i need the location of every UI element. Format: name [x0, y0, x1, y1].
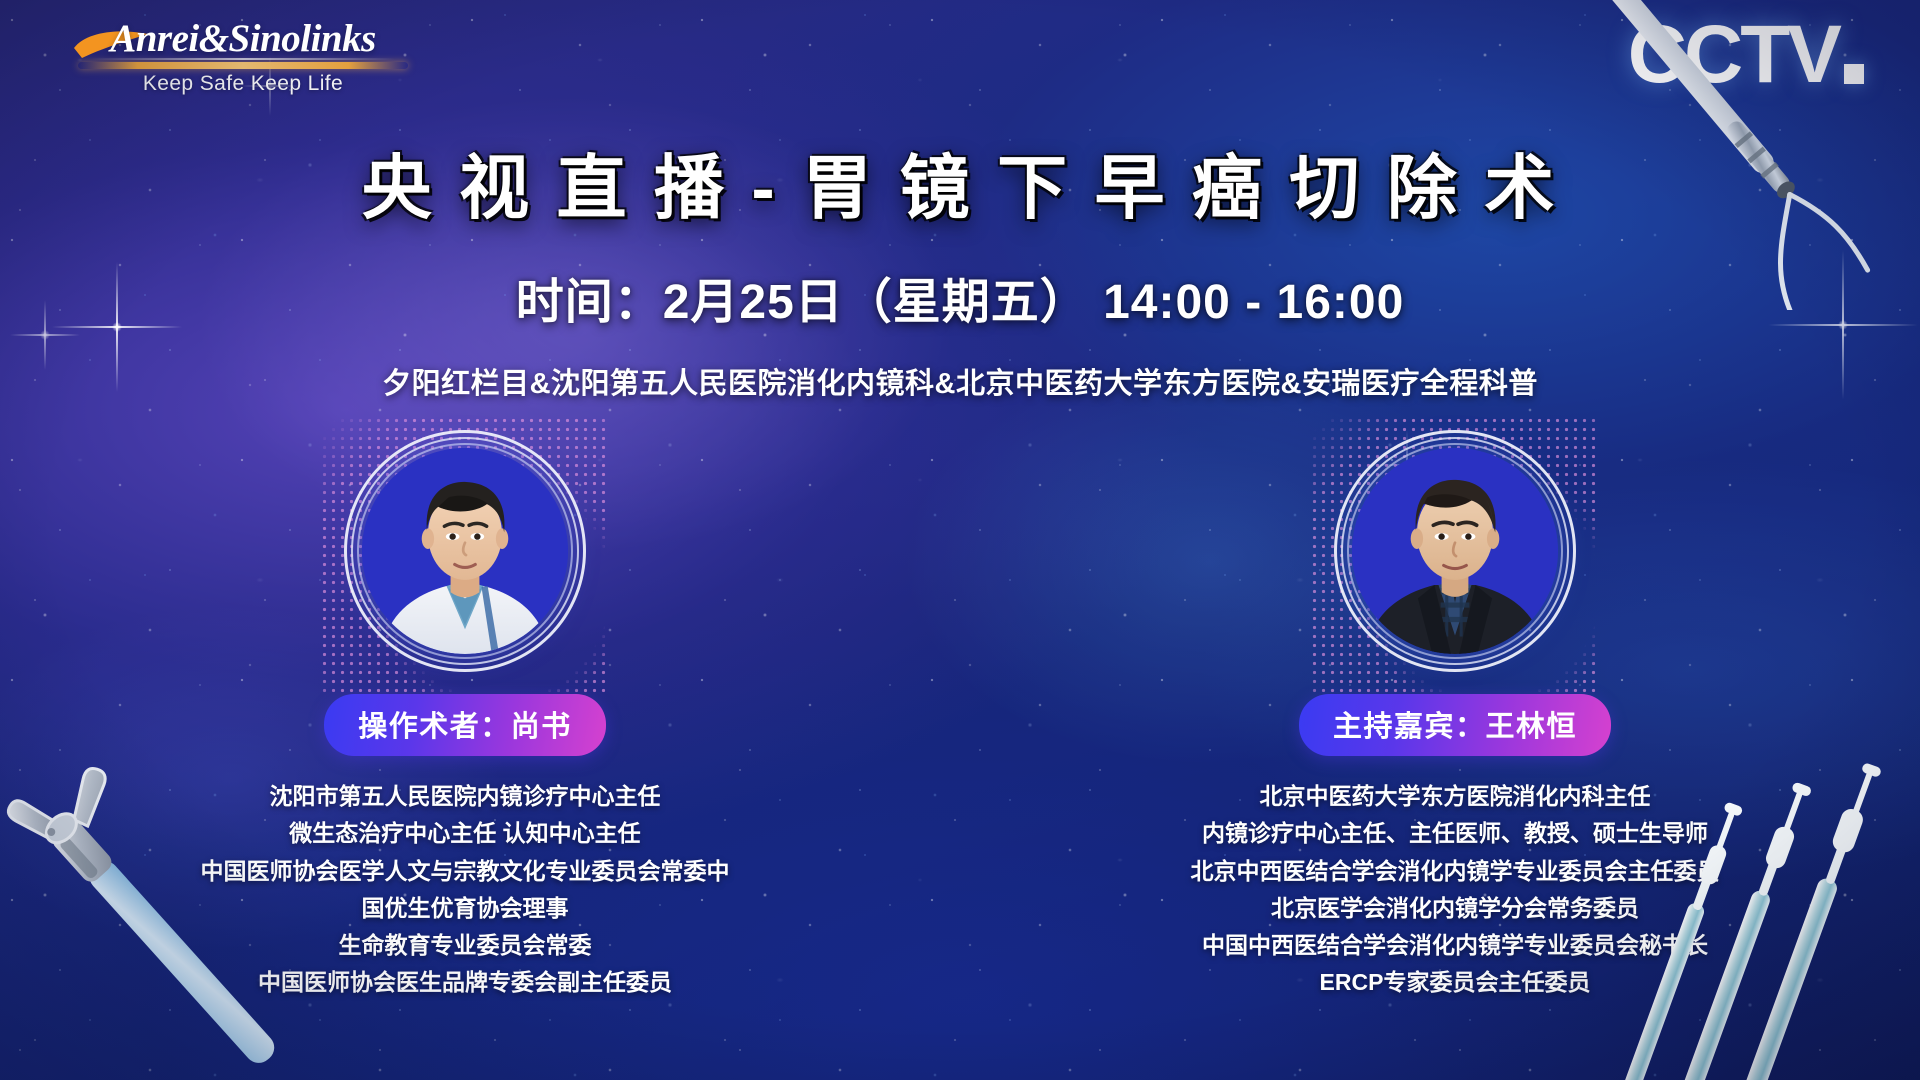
credential-line: 北京中医药大学东方医院消化内科主任 [1175, 778, 1735, 815]
brand-tagline: Keep Safe Keep Life [78, 72, 408, 96]
avatar [1352, 448, 1558, 654]
credential-line: 中国医师协会医学人文与宗教文化专业委员会常委中 [185, 853, 745, 890]
credential-line: 中国中西医结合学会消化内镜学专业委员会秘书长 [1175, 927, 1735, 964]
speaker-role-badge: 操作术者：尚书 [324, 694, 606, 756]
credential-line: 内镜诊疗中心主任、主任医师、教授、硕士生导师 [1175, 815, 1735, 852]
brand-name: Anrei&Sinolinks [78, 16, 408, 61]
credential-line: 国优生优育协会理事 [185, 890, 745, 927]
cctv-logo-dot [1844, 64, 1864, 84]
page-title: 央 视 直 播 - 胃 镜 下 早 癌 切 除 术 [0, 132, 1920, 233]
avatar [362, 448, 568, 654]
broadcast-time: 时间：2月25日（星期五） 14:00 - 16:00 [0, 262, 1920, 332]
credential-line: 中国医师协会医生品牌专委会副主任委员 [185, 964, 745, 1001]
brand-divider [78, 62, 408, 69]
speakers-section: 操作术者：尚书 沈阳市第五人民医院内镜诊疗中心主任 微生态治疗中心主任 认知中心… [0, 448, 1920, 1002]
speaker-portrait [362, 448, 568, 654]
speaker-portrait [1352, 448, 1558, 654]
speaker-card: 操作术者：尚书 沈阳市第五人民医院内镜诊疗中心主任 微生态治疗中心主任 认知中心… [185, 448, 745, 1002]
brand-logo: Anrei&Sinolinks Keep Safe Keep Life [78, 16, 408, 96]
credential-line: 生命教育专业委员会常委 [185, 927, 745, 964]
page-subtitle: 夕阳红栏目&沈阳第五人民医院消化内镜科&北京中医药大学东方医院&安瑞医疗全程科普 [0, 360, 1920, 402]
credential-line: 北京中西医结合学会消化内镜学专业委员会主任委员 [1175, 853, 1735, 890]
credential-line: 微生态治疗中心主任 认知中心主任 [185, 815, 745, 852]
speaker-card: 主持嘉宾：王林恒 北京中医药大学东方医院消化内科主任 内镜诊疗中心主任、主任医师… [1175, 448, 1735, 1002]
cctv-logo-text: CCTV [1628, 17, 1839, 92]
credential-line: ERCP专家委员会主任委员 [1175, 964, 1735, 1001]
speaker-role-badge: 主持嘉宾：王林恒 [1299, 694, 1611, 756]
speaker-credentials: 沈阳市第五人民医院内镜诊疗中心主任 微生态治疗中心主任 认知中心主任 中国医师协… [185, 778, 745, 1002]
live-broadcast-poster: Anrei&Sinolinks Keep Safe Keep Life CCTV… [0, 0, 1920, 1080]
cctv-logo: CCTV [1628, 17, 1864, 92]
credential-line: 沈阳市第五人民医院内镜诊疗中心主任 [185, 778, 745, 815]
credential-line: 北京医学会消化内镜学分会常务委员 [1175, 890, 1735, 927]
speaker-credentials: 北京中医药大学东方医院消化内科主任 内镜诊疗中心主任、主任医师、教授、硕士生导师… [1175, 778, 1735, 1002]
